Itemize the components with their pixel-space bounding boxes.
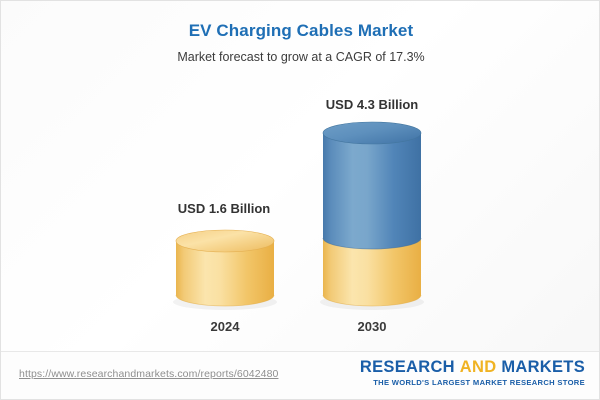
- report-url-link[interactable]: https://www.researchandmarkets.com/repor…: [19, 368, 278, 380]
- logo-wordmark: RESEARCH AND MARKETS: [360, 358, 585, 377]
- logo-word-research: RESEARCH: [360, 358, 455, 376]
- logo-word-and: AND: [460, 358, 497, 376]
- research-and-markets-logo[interactable]: RESEARCH AND MARKETS THE WORLD'S LARGEST…: [360, 358, 585, 388]
- bar-cylinder-2030: [323, 122, 421, 310]
- footer: https://www.researchandmarkets.com/repor…: [1, 351, 600, 399]
- bar-cylinder-2024: [176, 230, 274, 310]
- bar-value-label-2024: USD 1.6 Billion: [124, 201, 324, 216]
- bar-value-label-2030: USD 4.3 Billion: [272, 97, 472, 112]
- bar-category-label-2030: 2030: [272, 319, 472, 334]
- chart-plot-area: USD 1.6 Billion: [1, 1, 600, 353]
- logo-word-markets: MARKETS: [501, 358, 585, 376]
- logo-tagline: THE WORLD'S LARGEST MARKET RESEARCH STOR…: [360, 378, 585, 388]
- infographic-card: EV Charging Cables Market Market forecas…: [0, 0, 600, 400]
